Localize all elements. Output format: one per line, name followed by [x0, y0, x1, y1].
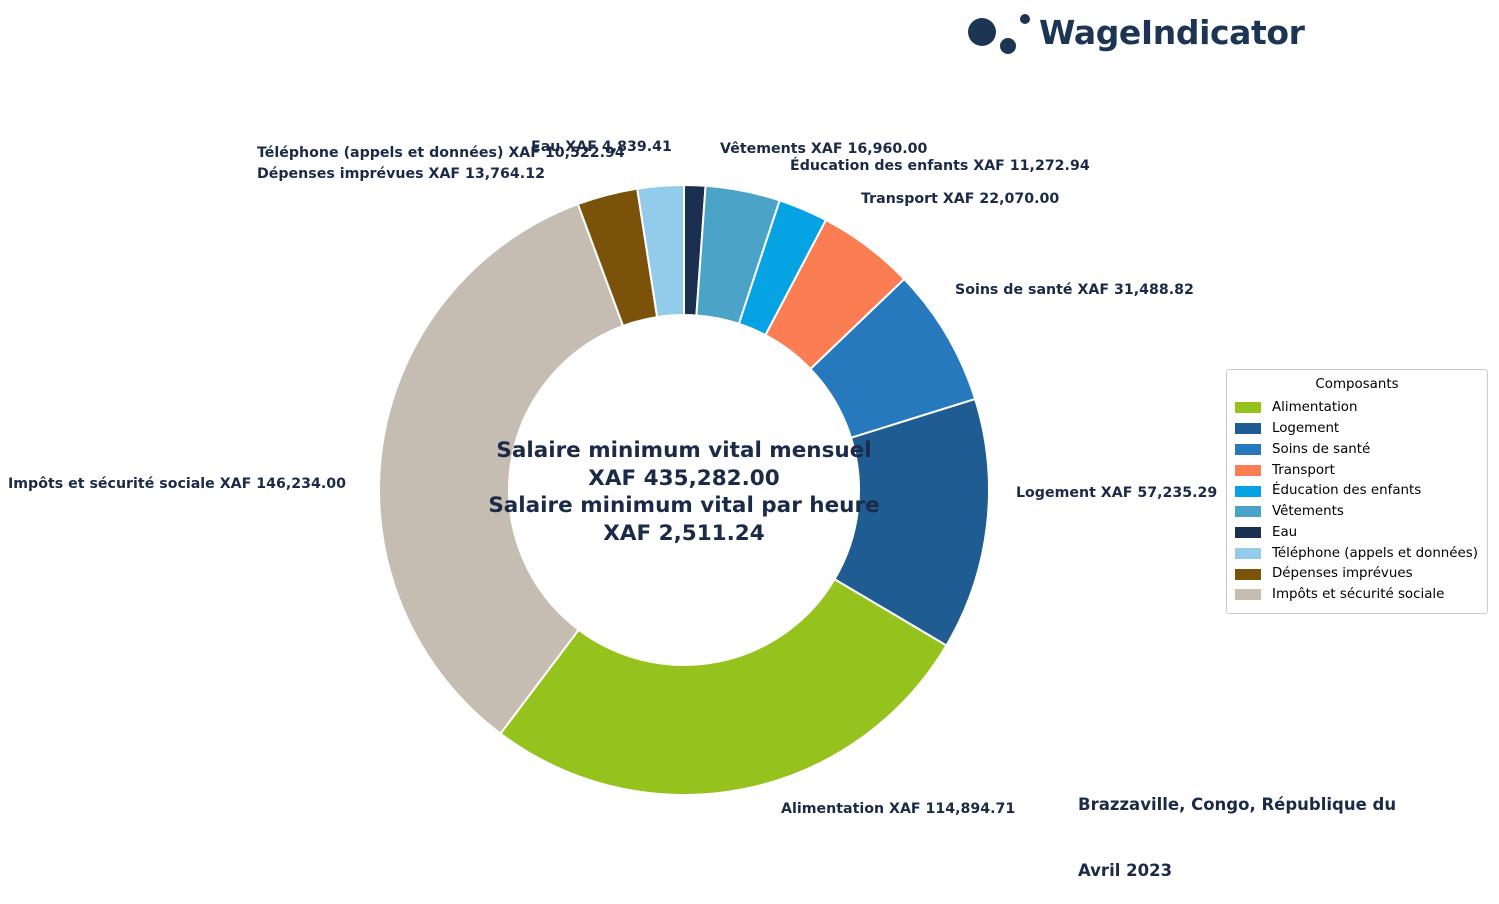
legend-title: Composants	[1235, 376, 1479, 393]
slice-label-depenses-imprevues: Dépenses imprévues XAF 13,764.12	[257, 166, 545, 183]
legend-item-label: Transport	[1272, 464, 1335, 477]
slice-label-logement: Logement XAF 57,235.29	[1016, 485, 1217, 502]
legend-item[interactable]: Soins de santé	[1235, 439, 1479, 460]
legend-item[interactable]: Dépenses imprévues	[1235, 564, 1479, 585]
legend-swatch-icon	[1235, 423, 1261, 434]
legend-item-label: Eau	[1272, 526, 1297, 539]
legend-item[interactable]: Impôts et sécurité sociale	[1235, 585, 1479, 606]
legend-swatch-icon	[1235, 402, 1261, 413]
legend-item-label: Impôts et sécurité sociale	[1272, 588, 1444, 601]
legend-swatch-icon	[1235, 506, 1261, 517]
slice-label-education-des-enfants: Éducation des enfants XAF 11,272.94	[790, 158, 1090, 175]
donut-slice[interactable]	[500, 579, 946, 795]
slice-label-transport: Transport XAF 22,070.00	[861, 191, 1059, 208]
legend-swatch-icon	[1235, 589, 1261, 600]
legend-item-label: Logement	[1272, 422, 1339, 435]
donut-svg	[379, 185, 989, 795]
legend-item-label: Alimentation	[1272, 401, 1357, 414]
legend-item-label: Éducation des enfants	[1272, 484, 1421, 497]
slice-label-impots-et-securite-sociale: Impôts et sécurité sociale XAF 146,234.0…	[8, 476, 346, 493]
legend-swatch-icon	[1235, 569, 1261, 580]
legend-swatch-icon	[1235, 527, 1261, 538]
legend-item-label: Vêtements	[1272, 505, 1344, 518]
legend-swatch-icon	[1235, 465, 1261, 476]
donut-slices	[379, 185, 989, 795]
legend-item[interactable]: Eau	[1235, 522, 1479, 543]
slice-label-vetements: Vêtements XAF 16,960.00	[720, 141, 927, 158]
legend-item[interactable]: Alimentation	[1235, 397, 1479, 418]
legend-item[interactable]: Éducation des enfants	[1235, 481, 1479, 502]
legend-item-label: Soins de santé	[1272, 443, 1370, 456]
legend-rows: AlimentationLogementSoins de santéTransp…	[1235, 397, 1479, 605]
caption-location: Brazzaville, Congo, République du	[1078, 794, 1478, 816]
caption-date: Avril 2023	[1078, 860, 1478, 882]
slice-label-alimentation: Alimentation XAF 114,894.71	[781, 801, 1015, 818]
legend-item[interactable]: Transport	[1235, 460, 1479, 481]
legend-item[interactable]: Vêtements	[1235, 501, 1479, 522]
legend: Composants AlimentationLogementSoins de …	[1226, 369, 1488, 614]
legend-item[interactable]: Logement	[1235, 418, 1479, 439]
legend-swatch-icon	[1235, 548, 1261, 559]
legend-item-label: Téléphone (appels et données)	[1272, 547, 1478, 560]
slice-label-soins-de-sante: Soins de santé XAF 31,488.82	[955, 282, 1194, 299]
legend-swatch-icon	[1235, 444, 1261, 455]
legend-item-label: Dépenses imprévues	[1272, 567, 1413, 580]
legend-swatch-icon	[1235, 486, 1261, 497]
slice-label-eau: Eau XAF 4,839.41	[531, 139, 672, 156]
legend-item[interactable]: Téléphone (appels et données)	[1235, 543, 1479, 564]
